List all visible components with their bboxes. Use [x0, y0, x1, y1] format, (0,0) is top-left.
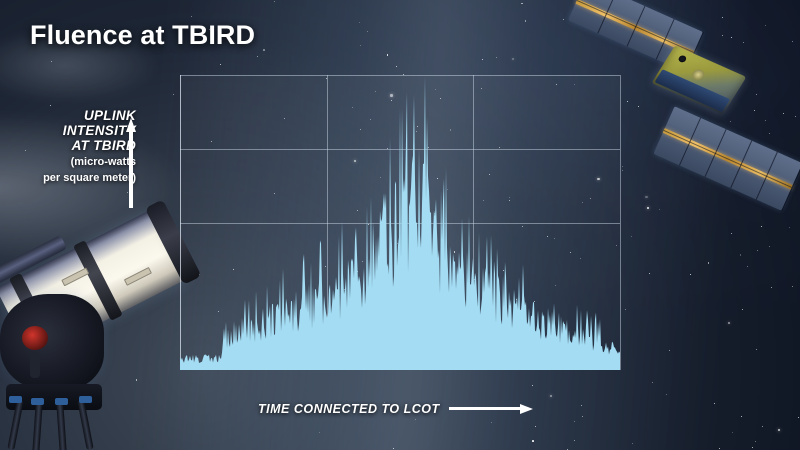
- fluence-at-tbird-infographic: Fluence at TBIRD UPLINK INTENSITY AT TBI…: [0, 0, 800, 450]
- star: [25, 150, 26, 151]
- star: [319, 432, 320, 433]
- x-axis-arrow-icon: [449, 404, 533, 414]
- star: [532, 440, 534, 442]
- y-axis-arrow-icon: [126, 118, 136, 208]
- uplink-intensity-series: [180, 75, 620, 370]
- star: [669, 350, 670, 351]
- star: [625, 309, 626, 310]
- star: [652, 382, 653, 383]
- star: [512, 58, 514, 60]
- star: [387, 54, 389, 56]
- star: [50, 105, 51, 106]
- star: [525, 20, 527, 22]
- star: [574, 440, 575, 441]
- star: [482, 59, 483, 60]
- star: [550, 395, 552, 397]
- star: [755, 441, 756, 442]
- mount-control-knob: [30, 352, 40, 378]
- star: [274, 1, 275, 2]
- y-axis-units-line-2: per square meter): [28, 171, 136, 185]
- solar-panel-wing-right: [653, 106, 800, 210]
- star: [257, 56, 258, 57]
- star: [762, 426, 763, 427]
- star: [771, 287, 772, 288]
- star: [415, 419, 416, 420]
- star: [367, 31, 368, 32]
- star: [632, 443, 633, 444]
- y-axis-label-line-1: UPLINK: [28, 108, 136, 123]
- star: [51, 61, 52, 62]
- star: [719, 448, 720, 449]
- star: [521, 3, 523, 5]
- star: [220, 64, 221, 65]
- star: [360, 45, 361, 46]
- star: [690, 274, 691, 275]
- page-title: Fluence at TBIRD: [30, 20, 255, 51]
- star: [666, 394, 667, 395]
- x-axis-label-text: TIME CONNECTED TO LCOT: [258, 402, 440, 416]
- star: [191, 16, 193, 18]
- optical-terminal-port: [690, 68, 706, 82]
- star: [732, 432, 733, 433]
- star: [535, 426, 536, 427]
- star: [631, 236, 632, 237]
- star: [649, 273, 650, 274]
- star: [747, 266, 748, 267]
- tripod-foot: [31, 398, 44, 405]
- tripod-foot: [9, 396, 22, 403]
- mount-red-knob: [22, 326, 48, 350]
- star: [789, 227, 790, 228]
- star: [173, 94, 174, 95]
- star: [769, 246, 770, 247]
- star: [393, 448, 394, 449]
- x-axis-label: TIME CONNECTED TO LCOT: [258, 402, 533, 416]
- star: [263, 49, 265, 51]
- star: [708, 262, 710, 264]
- star: [714, 403, 715, 404]
- star: [756, 349, 757, 350]
- bus-aperture: [677, 55, 687, 64]
- star: [496, 57, 497, 58]
- y-axis-label-line-2: INTENSITY: [28, 123, 136, 138]
- star: [761, 226, 762, 227]
- star: [396, 66, 397, 67]
- star: [778, 429, 780, 431]
- y-axis-units-line-1: (micro-watts: [28, 155, 136, 169]
- equatorial-mount: [0, 294, 104, 390]
- tube-label: [61, 267, 89, 286]
- star: [740, 254, 742, 256]
- y-axis-label: UPLINK INTENSITY AT TBIRD (micro-watts p…: [28, 108, 136, 185]
- star: [792, 286, 793, 287]
- star: [742, 309, 743, 310]
- star: [728, 322, 730, 324]
- tube-label: [124, 267, 152, 286]
- star: [741, 416, 742, 417]
- y-axis-label-line-3: AT TBIRD: [28, 138, 136, 153]
- star: [752, 447, 753, 448]
- star: [532, 385, 533, 386]
- star: [359, 22, 360, 23]
- star: [757, 250, 758, 251]
- star: [574, 421, 575, 422]
- tripod-foot: [79, 396, 92, 403]
- star: [581, 405, 582, 406]
- star: [491, 422, 492, 423]
- tripod-foot: [55, 398, 68, 405]
- gridline-vertical: [620, 75, 621, 370]
- fluence-chart: 0.00.20.30.4 0 min1 min2 min3 min: [180, 75, 620, 370]
- star: [731, 233, 732, 234]
- star: [582, 416, 583, 417]
- star: [798, 417, 799, 418]
- star: [659, 209, 660, 210]
